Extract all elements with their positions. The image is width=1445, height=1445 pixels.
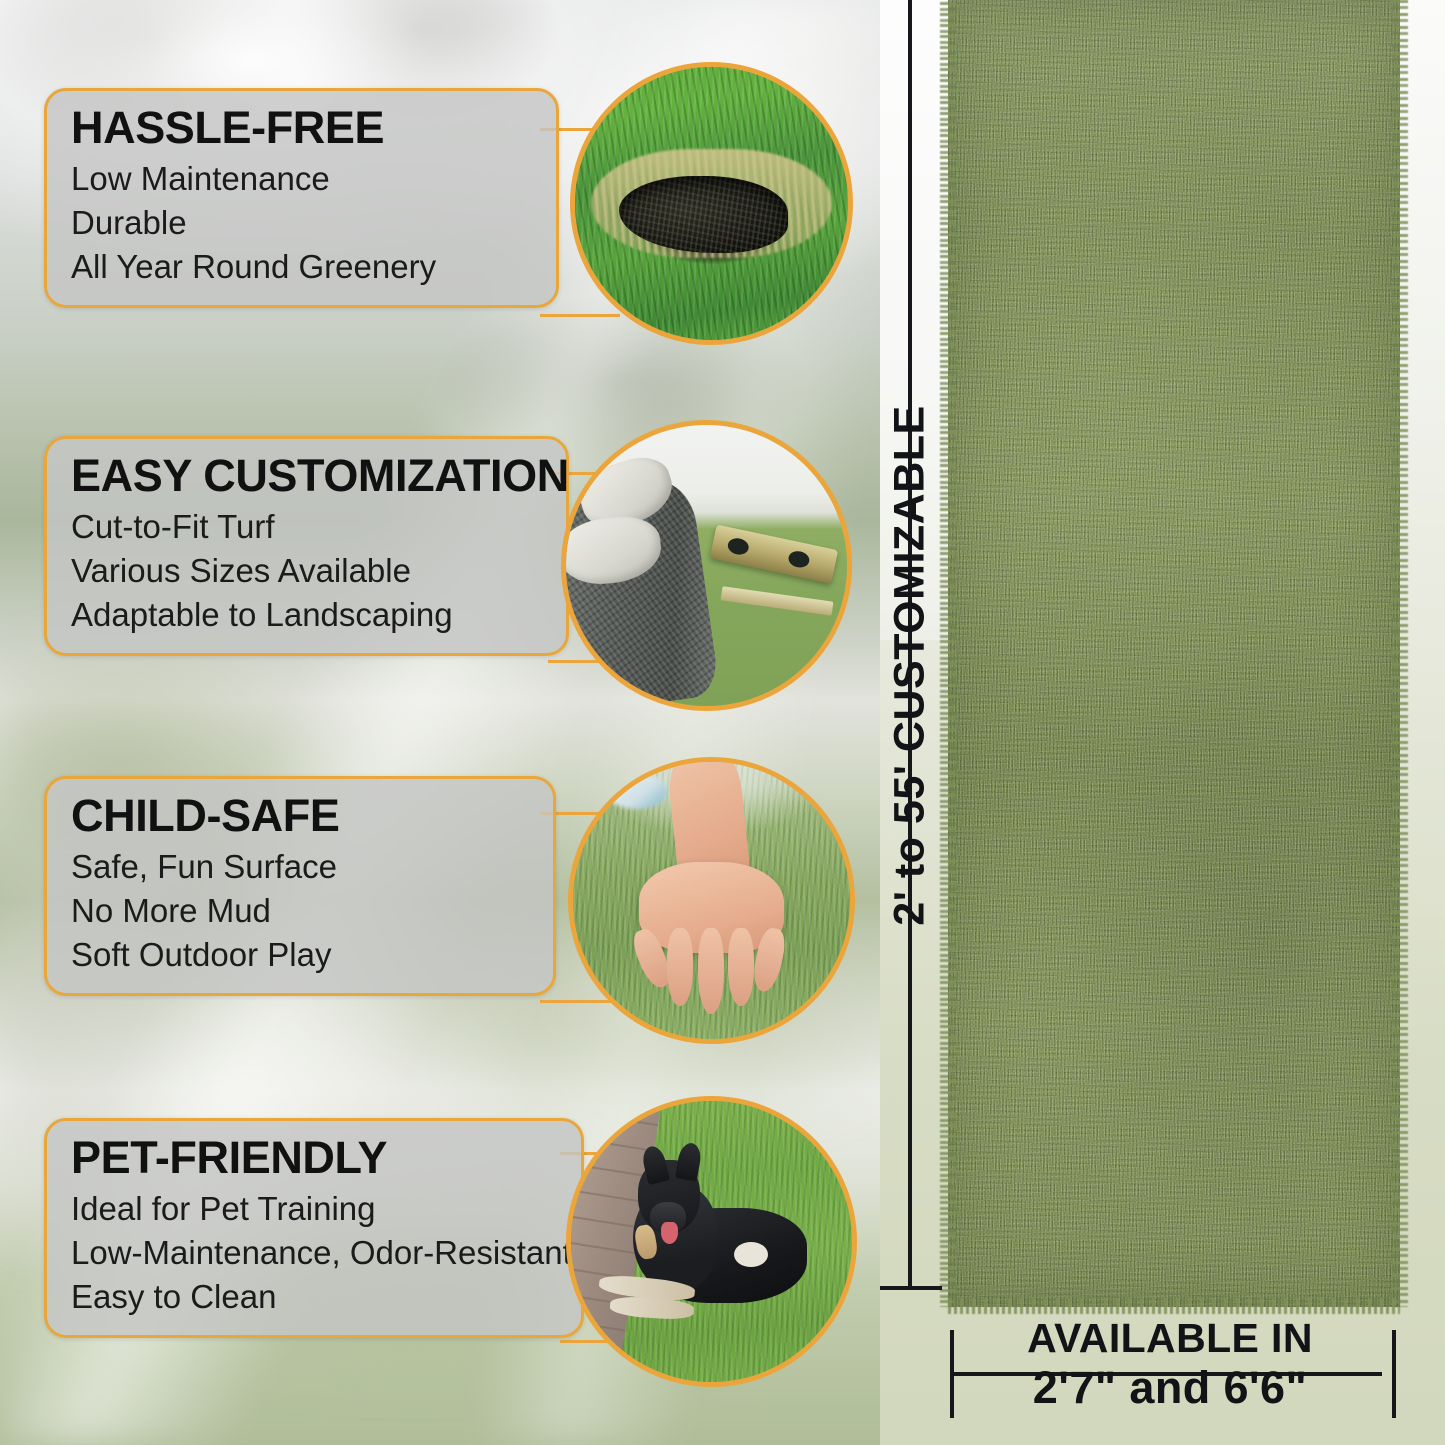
infographic-canvas: 2' to 55' CUSTOMIZABLE AVAILABLE IN 2'7"… bbox=[0, 0, 1445, 1445]
feature-bullet: Adaptable to Landscaping bbox=[71, 593, 544, 637]
available-sizes-value: 2'7" and 6'6" bbox=[960, 1365, 1380, 1411]
feature-bullet: Ideal for Pet Training bbox=[71, 1187, 559, 1231]
finger-middle bbox=[698, 928, 724, 1014]
feature-bullet: Durable bbox=[71, 201, 534, 245]
spirit-level-tool bbox=[710, 525, 838, 584]
available-in-label: AVAILABLE IN bbox=[960, 1318, 1380, 1360]
feature-bullet: No More Mud bbox=[71, 889, 531, 933]
feature-callout-pet-friendly: PET-FRIENDLY Ideal for Pet Training Low-… bbox=[44, 1118, 584, 1338]
dog-illustration bbox=[571, 1101, 852, 1382]
feature-photo-turf-installation bbox=[561, 420, 852, 711]
feature-bullet: Low-Maintenance, Odor-Resistant bbox=[71, 1231, 559, 1275]
available-sizes-block: AVAILABLE IN 2'7" and 6'6" bbox=[960, 1318, 1380, 1411]
turf-roll-illustration bbox=[575, 67, 848, 340]
feature-photo-child-hand bbox=[568, 757, 855, 1044]
finger-index bbox=[667, 928, 693, 1006]
feature-photo-turf-roll-backing bbox=[570, 62, 853, 345]
feature-title: CHILD-SAFE bbox=[71, 793, 531, 838]
child-hand-illustration bbox=[573, 762, 850, 1039]
vertical-dimension-label-wrap: 2' to 55' CUSTOMIZABLE bbox=[875, 345, 945, 985]
installation-illustration bbox=[566, 425, 847, 706]
feature-bullet-list: Low Maintenance Durable All Year Round G… bbox=[71, 157, 534, 289]
feature-bullet: Various Sizes Available bbox=[71, 549, 544, 593]
turf-strip-product-image bbox=[948, 0, 1400, 1307]
vertical-dimension-end-cap bbox=[880, 1286, 942, 1290]
feature-bullet-list: Safe, Fun Surface No More Mud Soft Outdo… bbox=[71, 845, 531, 977]
feature-bullet-list: Cut-to-Fit Turf Various Sizes Available … bbox=[71, 505, 544, 637]
feature-title: EASY CUSTOMIZATION bbox=[71, 453, 544, 498]
feature-bullet: Low Maintenance bbox=[71, 157, 534, 201]
feature-bullet: Easy to Clean bbox=[71, 1275, 559, 1319]
feature-bullet: Soft Outdoor Play bbox=[71, 933, 531, 977]
feature-photo-dog-on-turf bbox=[566, 1096, 857, 1387]
feature-bullet-list: Ideal for Pet Training Low-Maintenance, … bbox=[71, 1187, 559, 1319]
feature-title: PET-FRIENDLY bbox=[71, 1135, 559, 1180]
dog-ear-right bbox=[675, 1141, 703, 1181]
feature-title: HASSLE-FREE bbox=[71, 105, 534, 150]
feature-callout-child-safe: CHILD-SAFE Safe, Fun Surface No More Mud… bbox=[44, 776, 556, 996]
finger-ring bbox=[728, 928, 754, 1006]
feature-callout-easy-customization: EASY CUSTOMIZATION Cut-to-Fit Turf Vario… bbox=[44, 436, 569, 656]
vertical-dimension-label: 2' to 55' CUSTOMIZABLE bbox=[886, 405, 935, 925]
feature-bullet: All Year Round Greenery bbox=[71, 245, 534, 289]
dog-tongue bbox=[661, 1222, 678, 1244]
horizontal-dimension-right-cap bbox=[1392, 1330, 1396, 1418]
feature-bullet: Safe, Fun Surface bbox=[71, 845, 531, 889]
blurred-toy bbox=[606, 773, 667, 809]
feature-bullet: Cut-to-Fit Turf bbox=[71, 505, 544, 549]
dog-white-patch bbox=[734, 1242, 768, 1267]
measuring-stick bbox=[720, 586, 833, 616]
feature-callout-hassle-free: HASSLE-FREE Low Maintenance Durable All … bbox=[44, 88, 559, 308]
